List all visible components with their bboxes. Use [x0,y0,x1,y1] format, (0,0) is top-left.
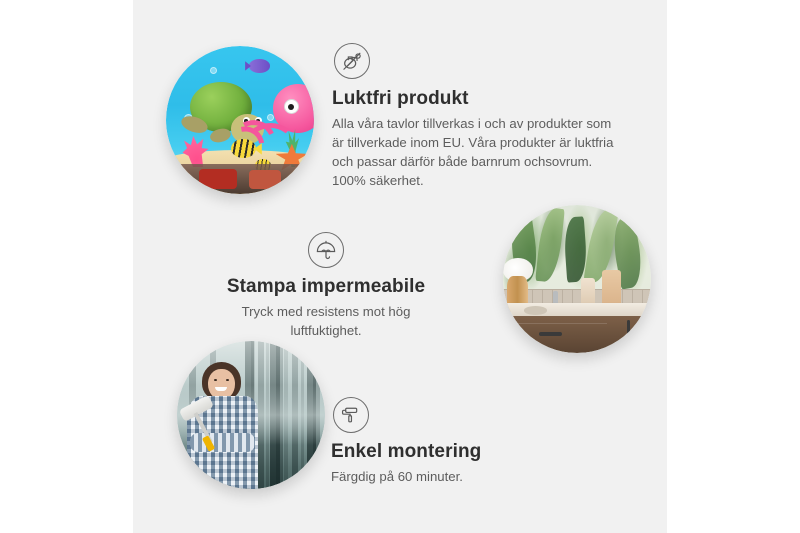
feature-title: Stampa impermeabile [205,276,679,298]
feature-block-waterproof: Stampa impermeabile Tryck med resistens … [205,232,679,340]
feature-title: Enkel montering [331,441,621,463]
umbrella-icon [308,232,344,268]
feature-description: Färgdig på 60 minuter. [331,467,621,486]
paint-roller-icon [333,397,369,433]
product-image-underwater-scene [166,46,314,194]
feature-title: Luktfri produkt [332,88,622,110]
no-odour-perfume-bottle-icon [334,43,370,79]
infographic-page: Luktfri produkt Alla våra tavlor tillver… [0,0,800,533]
feature-block-easy-assembly: Enkel montering Färgdig på 60 minuter. [331,397,621,486]
feature-description: Tryck med resistens mot hög luftfuktighe… [205,302,679,340]
feature-block-odourless: Luktfri produkt Alla våra tavlor tillver… [332,43,622,190]
product-image-woman-with-roller [177,341,325,489]
feature-description: Alla våra tavlor tillverkas i och av pro… [332,114,622,190]
